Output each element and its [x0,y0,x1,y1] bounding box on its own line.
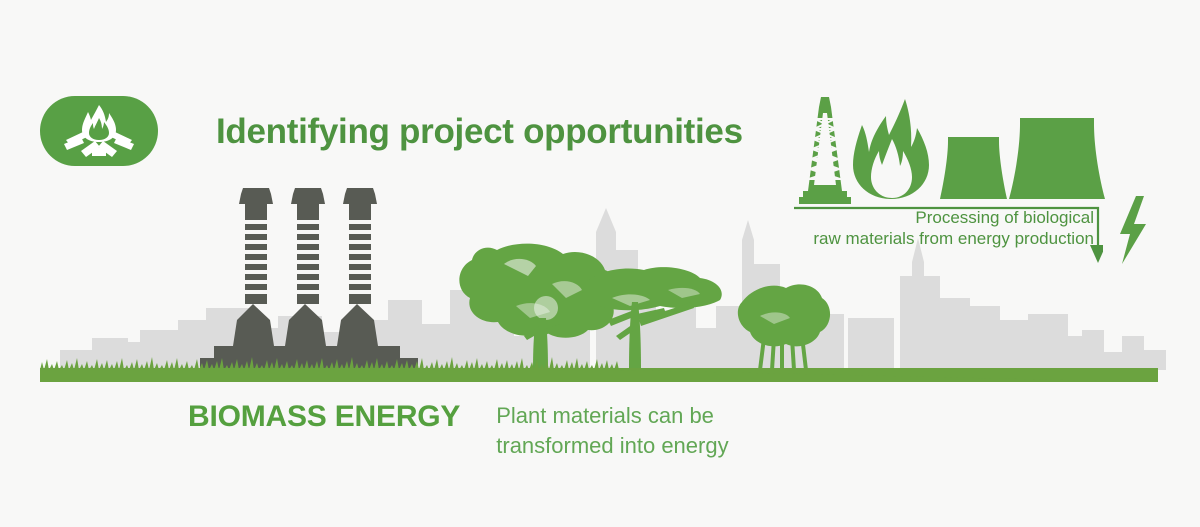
brand-badge [40,96,158,166]
page-title: Identifying project opportunities [216,114,743,149]
header: Identifying project opportunities [40,96,743,166]
infographic-canvas: Identifying project opportunities [0,0,1200,527]
illustration-scene [0,180,1200,385]
caption-block: BIOMASS ENERGY Plant materials can be tr… [188,400,729,461]
biomass-energy-description: Plant materials can be transformed into … [496,401,728,461]
biomass-energy-label: BIOMASS ENERGY [188,400,460,434]
campfire-icon [60,104,138,158]
